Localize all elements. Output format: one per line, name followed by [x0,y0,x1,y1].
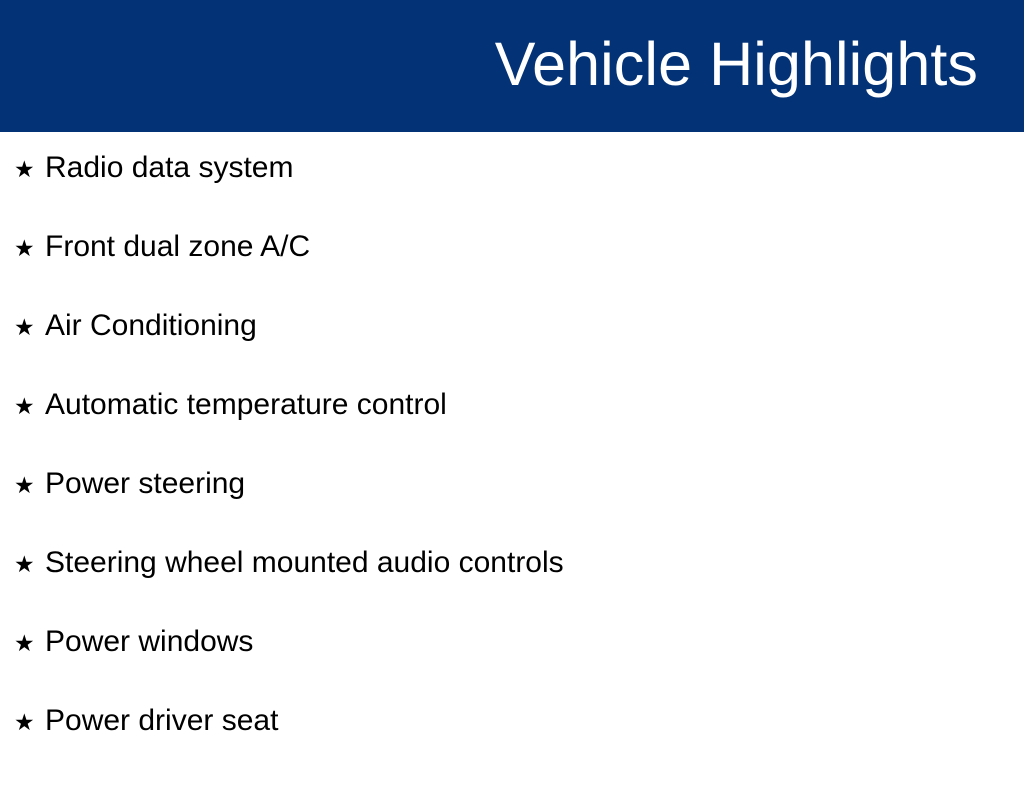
list-item: ★ Power steering [0,469,1024,548]
feature-label: Steering wheel mounted audio controls [45,548,564,578]
feature-label: Air Conditioning [45,311,257,341]
star-bullet-icon: ★ [14,554,45,577]
star-bullet-icon: ★ [14,475,45,498]
list-item: ★ Power driver seat [0,706,1024,785]
feature-label: Power steering [45,469,245,499]
list-item: ★ Automatic temperature control [0,390,1024,469]
page-title: Vehicle Highlights [495,32,978,96]
slide: Vehicle Highlights ★ Radio data system ★… [0,0,1024,768]
slide-body: ★ Radio data system ★ Front dual zone A/… [0,132,1024,768]
feature-label: Front dual zone A/C [45,232,310,262]
feature-label: Power windows [45,627,253,657]
vehicle-feature-list: ★ Radio data system ★ Front dual zone A/… [0,153,1024,785]
list-item: ★ Steering wheel mounted audio controls [0,548,1024,627]
list-item: ★ Front dual zone A/C [0,232,1024,311]
star-bullet-icon: ★ [14,712,45,735]
star-bullet-icon: ★ [14,317,45,340]
list-item: ★ Power windows [0,627,1024,706]
star-bullet-icon: ★ [14,633,45,656]
list-item: ★ Air Conditioning [0,311,1024,390]
slide-header-band: Vehicle Highlights [0,0,1024,132]
feature-label: Automatic temperature control [45,390,447,420]
feature-label: Power driver seat [45,706,278,736]
star-bullet-icon: ★ [14,396,45,419]
star-bullet-icon: ★ [14,238,45,261]
list-item: ★ Radio data system [0,153,1024,232]
feature-label: Radio data system [45,153,293,183]
star-bullet-icon: ★ [14,159,45,182]
